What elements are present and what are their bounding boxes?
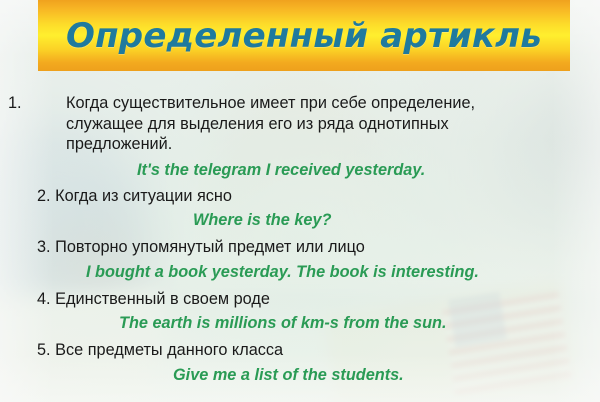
rule-example-2: Where is the key? — [193, 210, 600, 231]
rule-example-5: Give me a list of the students. — [173, 365, 600, 386]
rule-number-3: 3. — [37, 238, 51, 256]
rule-body-4: Единственный в своем роде — [55, 290, 270, 308]
rule-text-5: 5. Все предметы данного класса — [37, 340, 537, 361]
page-title: Определенный артикль — [66, 19, 542, 53]
rule-item-1: 1.Когда существительное имеет при себе о… — [0, 93, 600, 181]
rule-text-2: 2. Когда из ситуации ясно — [37, 186, 537, 207]
rule-example-1: It's the telegram I received yesterday. — [137, 160, 600, 181]
rule-body-1: Когда существительное имеет при себе опр… — [66, 94, 480, 153]
rule-number-2: 2. — [37, 187, 51, 205]
rule-item-4: 4. Единственный в своем роде The earth i… — [0, 289, 600, 335]
rule-text-3: 3. Повторно упомянутый предмет или лицо — [37, 237, 537, 258]
rule-text-1: 1.Когда существительное имеет при себе о… — [37, 93, 536, 155]
rule-number-5: 5. — [37, 341, 51, 359]
rule-text-4: 4. Единственный в своем роде — [37, 289, 537, 310]
slide: Определенный артикль 1.Когда существител… — [0, 0, 600, 402]
rule-item-3: 3. Повторно упомянутый предмет или лицо … — [0, 237, 600, 283]
rule-example-4: The earth is millions of km-s from the s… — [119, 313, 600, 334]
title-banner: Определенный артикль — [38, 0, 570, 71]
rule-body-3: Повторно упомянутый предмет или лицо — [55, 238, 365, 256]
rule-item-2: 2. Когда из ситуации ясно Where is the k… — [0, 186, 600, 232]
rule-body-2: Когда из ситуации ясно — [55, 187, 232, 205]
rules-list: 1.Когда существительное имеет при себе о… — [0, 93, 600, 386]
rule-body-5: Все предметы данного класса — [55, 341, 283, 359]
rule-number-1: 1. — [37, 93, 66, 114]
rule-example-3: I bought a book yesterday. The book is i… — [86, 262, 600, 283]
rule-item-5: 5. Все предметы данного класса Give me a… — [0, 340, 600, 386]
rule-number-4: 4. — [37, 290, 51, 308]
